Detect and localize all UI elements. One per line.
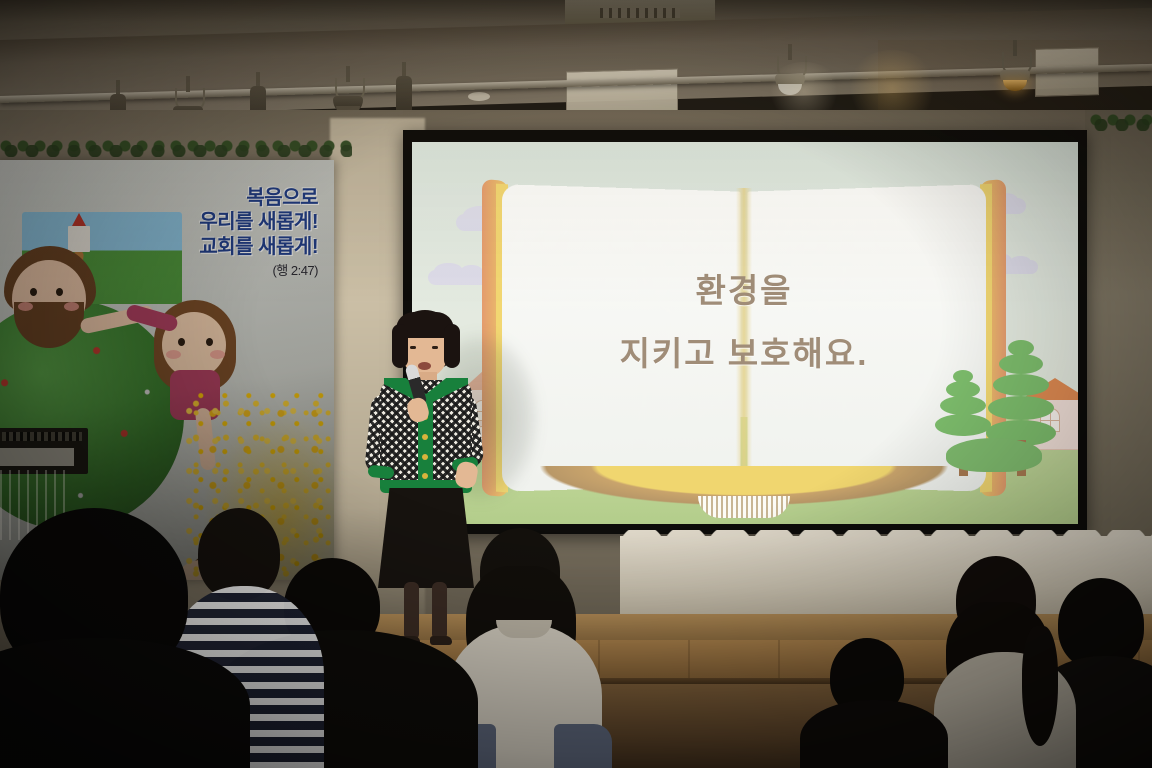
audience-member-1 [0,508,240,768]
audience-hair-strand [1022,626,1058,746]
green-leaf-garland-right [1090,112,1152,134]
projector-screen: 환경을 지키고 보호해요. [412,142,1078,524]
open-book-illustration: 환경을 지키고 보호해요. [504,188,984,488]
cloud-2 [428,270,490,285]
presenter-hair-side-left [392,324,408,368]
presenter-cuff-left [367,465,394,480]
slide-line-1: 환경을 [504,260,984,323]
audience-jeans-right [554,724,612,768]
tree-tier [988,396,1054,420]
presenter-hair-side-right [444,324,460,368]
audience-member-5 [800,638,940,768]
av-equipment-panel [0,448,74,466]
audience-member-6 [930,556,1080,768]
cardigan-button-4 [422,473,428,479]
audience-shoulders [0,638,250,768]
book-page-fan [698,496,790,518]
cardigan-button-2 [422,434,428,440]
presenter-eye-right [432,346,438,349]
tree-tier [940,396,986,415]
vent-slats [600,8,680,18]
slide-line-2: 지키고 보호해요. [504,323,984,386]
av-equipment-keys [2,432,82,441]
presenter-hand-right [454,460,479,489]
presenter-eye-left [410,346,416,349]
cardigan-button-3 [422,454,428,460]
slide-text-block: 환경을 지키고 보호해요. [504,260,984,385]
round-ceiling-fixture-icon [468,92,490,101]
tree-tier [999,354,1043,374]
tree-tier [935,414,991,436]
audience-shoulders [800,700,948,768]
green-leaf-garland [0,138,352,160]
slide-bush [946,438,1042,472]
tree-tier [993,374,1049,396]
presenter-mouth [418,362,431,370]
auditorium-scene: 복음으로 우리를 새롭게! 교회를 새롭게! (행 2:47) [0,0,1152,768]
